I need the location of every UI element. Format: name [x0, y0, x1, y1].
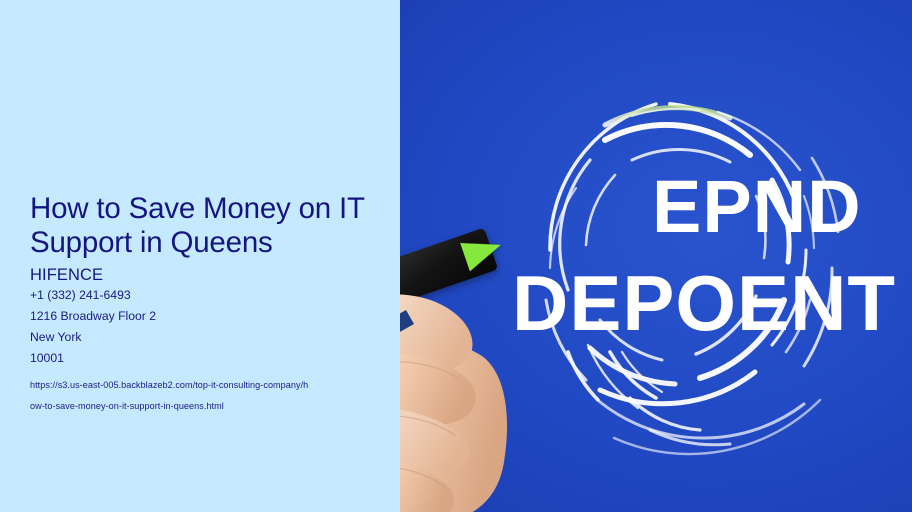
source-url-line-2: ow-to-save-money-on-it-support-in-queens…	[30, 396, 410, 417]
brand-name: HIFENCE	[30, 265, 410, 285]
article-info-block: How to Save Money on ITSupport in Queens…	[30, 192, 410, 417]
contact-zip: 10001	[30, 348, 410, 369]
source-url-line-1: https://s3.us-east-005.backblazeb2.com/t…	[30, 375, 410, 396]
page-title: How to Save Money on ITSupport in Queens	[30, 192, 410, 260]
hero-image-panel: EPND DEPOENT	[400, 0, 912, 512]
contact-phone[interactable]: +1 (332) 241-6493	[30, 285, 410, 306]
source-url[interactable]: https://s3.us-east-005.backblazeb2.com/t…	[30, 375, 410, 417]
article-preview-card: How to Save Money on ITSupport in Queens…	[0, 0, 912, 512]
hand-icon	[400, 252, 572, 512]
article-info-panel: How to Save Money on ITSupport in Queens…	[0, 0, 400, 512]
hand-with-marker	[400, 232, 572, 512]
hero-headline-line-1: EPND	[652, 165, 862, 248]
contact-street: 1216 Broadway Floor 2	[30, 306, 410, 327]
contact-city: New York	[30, 327, 410, 348]
